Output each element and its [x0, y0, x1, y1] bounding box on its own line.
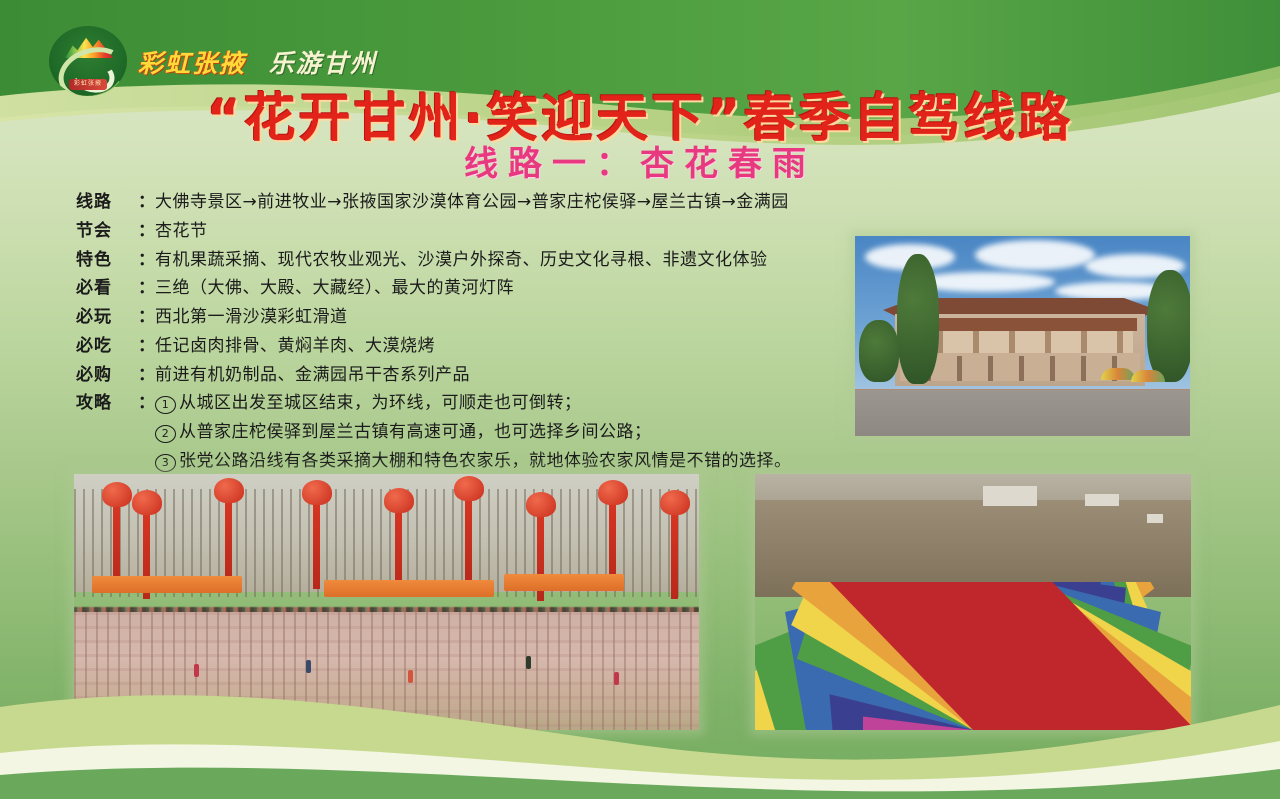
tree — [859, 320, 899, 382]
slogan-part1: 彩虹张掖 — [138, 49, 246, 78]
tree — [1147, 270, 1190, 382]
info-value: 西北第一滑沙漠彩虹滑道 — [155, 307, 876, 329]
red-balloon — [214, 478, 244, 587]
red-balloon — [598, 480, 628, 589]
tip-number: 2 — [155, 425, 176, 443]
tip-text: 张党公路沿线有各类采摘大棚和特色农家乐，就地体验农家风情是不错的选择。 — [179, 451, 792, 473]
red-balloon — [454, 476, 484, 585]
info-row-festival: 节会 ： 杏花节 — [76, 221, 876, 243]
tips-colon: ： — [138, 393, 155, 415]
info-row-route: 线路 ： 大佛寺景区→前进牧业→张掖国家沙漠体育公园→普家庄柁侯驿→屋兰古镇→金… — [76, 192, 876, 214]
red-balloon — [102, 482, 132, 591]
info-row-must-see: 必看 ： 三绝（大佛、大殿、大藏经）、最大的黄河灯阵 — [76, 278, 876, 300]
info-row-must-buy: 必购 ： 前进有机奶制品、金满园吊干杏系列产品 — [76, 365, 876, 387]
info-label: 必购 — [76, 365, 138, 387]
tip-number: 1 — [155, 396, 176, 414]
tip-item: 3 张党公路沿线有各类采摘大棚和特色农家乐，就地体验农家风情是不错的选择。 — [155, 451, 876, 473]
info-label: 必吃 — [76, 336, 138, 358]
tip-item: 2 从普家庄柁侯驿到屋兰古镇有高速可通，也可选择乡间公路； — [155, 422, 876, 444]
info-colon: ： — [138, 365, 155, 387]
info-label: 线路 — [76, 192, 138, 214]
red-balloon — [302, 480, 332, 589]
info-colon: ： — [138, 250, 155, 272]
info-value: 有机果蔬采摘、现代农牧业观光、沙漠户外探奇、历史文化寻根、非遗文化体验 — [155, 250, 876, 272]
festival-tent — [504, 574, 624, 591]
umbrella — [1131, 370, 1165, 382]
umbrella — [1101, 368, 1135, 380]
poster-root: 彩虹张掖 彩虹张掖 乐游甘州 “花开甘州·笑迎天下”春季自驾线路 线路一：杏花春… — [0, 0, 1280, 799]
info-row-features: 特色 ： 有机果蔬采摘、现代农牧业观光、沙漠户外探奇、历史文化寻根、非遗文化体验 — [76, 250, 876, 272]
info-label: 必玩 — [76, 307, 138, 329]
tip-number: 3 — [155, 454, 176, 472]
slogan: 彩虹张掖 乐游甘州 — [138, 44, 377, 80]
building — [1085, 494, 1119, 506]
info-row-tips: 攻略 ： 1 从城区出发至城区结束，为环线，可顺走也可倒转； 2 从普家庄柁侯驿… — [76, 393, 876, 472]
tips-label: 攻略 — [76, 393, 138, 415]
bottom-wave-shape — [0, 649, 1280, 799]
info-value: 杏花节 — [155, 221, 876, 243]
tip-text: 从城区出发至城区结束，为环线，可顺走也可倒转； — [179, 393, 582, 415]
tip-text: 从普家庄柁侯驿到屋兰古镇有高速可通，也可选择乡间公路； — [179, 422, 652, 444]
cloud — [975, 240, 1095, 270]
info-colon: ： — [138, 221, 155, 243]
red-balloon — [660, 490, 690, 599]
info-colon: ： — [138, 336, 155, 358]
info-colon: ： — [138, 307, 155, 329]
info-row-must-eat: 必吃 ： 任记卤肉排骨、黄焖羊肉、大漠烧烤 — [76, 336, 876, 358]
info-value: 前进有机奶制品、金满园吊干杏系列产品 — [155, 365, 876, 387]
info-block: 线路 ： 大佛寺景区→前进牧业→张掖国家沙漠体育公园→普家庄柁侯驿→屋兰古镇→金… — [76, 192, 876, 480]
info-label: 特色 — [76, 250, 138, 272]
info-label: 节会 — [76, 221, 138, 243]
temple-photo — [855, 236, 1190, 436]
bottom-wave-decoration — [0, 649, 1280, 799]
info-label: 必看 — [76, 278, 138, 300]
tip-item: 1 从城区出发至城区结束，为环线，可顺走也可倒转； — [155, 393, 876, 415]
tips-list: 1 从城区出发至城区结束，为环线，可顺走也可倒转； 2 从普家庄柁侯驿到屋兰古镇… — [155, 393, 876, 472]
building — [983, 486, 1037, 506]
info-value: 任记卤肉排骨、黄焖羊肉、大漠烧烤 — [155, 336, 876, 358]
slogan-part2: 乐游甘州 — [269, 49, 377, 78]
info-colon: ： — [138, 278, 155, 300]
temple-mid-columns — [907, 331, 1133, 353]
festival-tent — [324, 580, 494, 597]
festival-tent — [92, 576, 242, 593]
building — [1147, 514, 1163, 523]
plaza — [855, 390, 1190, 436]
info-colon: ： — [138, 192, 155, 214]
sub-title: 线路一：杏花春雨 — [0, 136, 1280, 185]
tree — [897, 254, 939, 384]
info-value: 三绝（大佛、大殿、大藏经）、最大的黄河灯阵 — [155, 278, 876, 300]
info-value: 大佛寺景区→前进牧业→张掖国家沙漠体育公园→普家庄柁侯驿→屋兰古镇→金满园 — [155, 192, 876, 214]
info-row-must-play: 必玩 ： 西北第一滑沙漠彩虹滑道 — [76, 307, 876, 329]
